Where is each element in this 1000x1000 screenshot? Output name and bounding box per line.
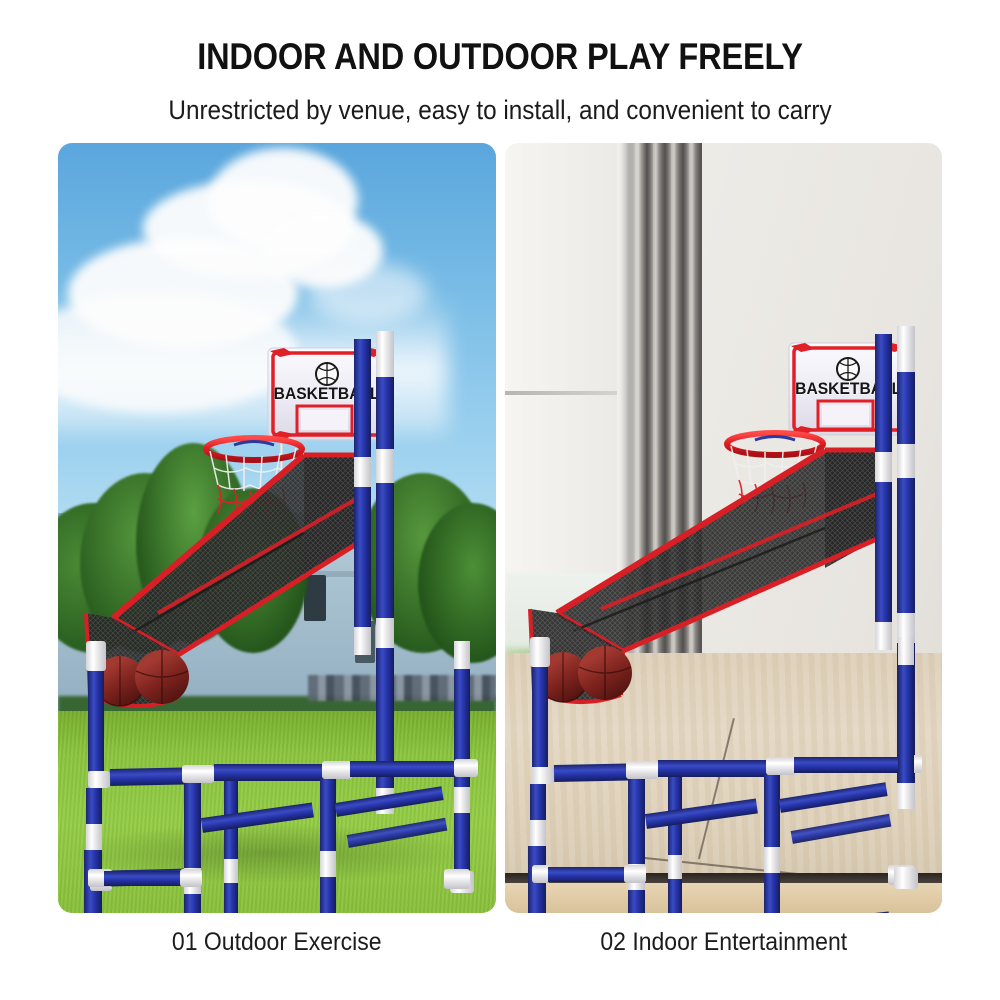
panel-indoor[interactable]: BASKETBALL bbox=[505, 143, 943, 913]
promo-page: INDOOR AND OUTDOOR PLAY FREELY Unrestric… bbox=[0, 0, 1000, 1000]
caption-row: 01 Outdoor Exercise 02 Indoor Entertainm… bbox=[58, 928, 942, 957]
caption-outdoor: 01 Outdoor Exercise bbox=[76, 928, 479, 957]
panel-outdoor[interactable]: BASKETBALL bbox=[58, 143, 496, 913]
page-title: INDOOR AND OUTDOOR PLAY FREELY bbox=[60, 36, 940, 78]
page-subtitle: Unrestricted by venue, easy to install, … bbox=[50, 95, 950, 126]
basketball-hoop-rig-outdoor[interactable]: BASKETBALL bbox=[58, 143, 496, 913]
caption-indoor: 02 Indoor Entertainment bbox=[522, 928, 925, 957]
basketball-hoop-rig-indoor[interactable]: BASKETBALL bbox=[505, 143, 943, 913]
image-panel-group: BASKETBALL bbox=[58, 143, 942, 913]
